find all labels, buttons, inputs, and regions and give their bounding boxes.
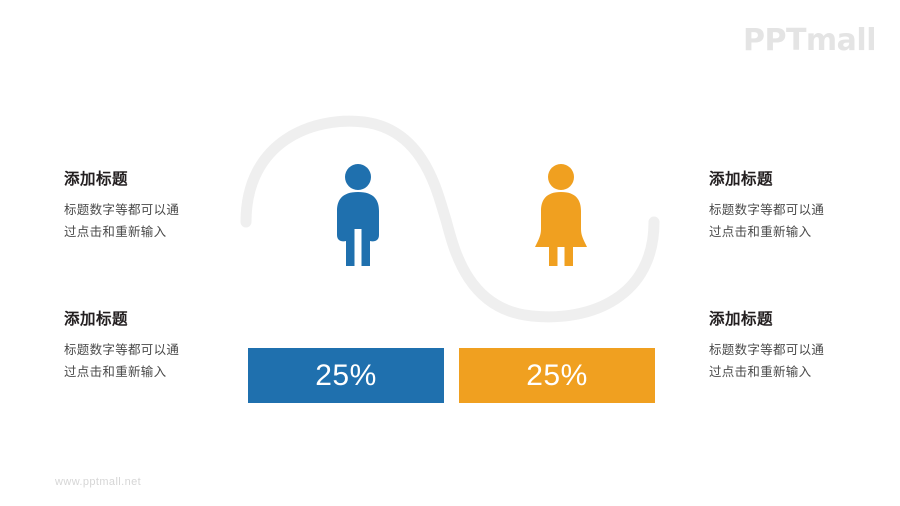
title-top-right: 添加标题 [709, 170, 894, 190]
person-male-icon [330, 163, 386, 268]
body-bottom-left-line1: 标题数字等都可以通 [64, 339, 249, 361]
title-bottom-left: 添加标题 [64, 310, 249, 330]
body-top-left-line1: 标题数字等都可以通 [64, 199, 249, 221]
text-block-top-left[interactable]: 添加标题 标题数字等都可以通 过点击和重新输入 [64, 170, 249, 243]
title-bottom-right: 添加标题 [709, 310, 894, 330]
body-top-left-line2: 过点击和重新输入 [64, 221, 249, 243]
body-bottom-left-line2: 过点击和重新输入 [64, 361, 249, 383]
percentage-value-orange: 25% [526, 359, 588, 393]
body-bottom-right-line1: 标题数字等都可以通 [709, 339, 894, 361]
body-bottom-right-line2: 过点击和重新输入 [709, 361, 894, 383]
body-top-right-line1: 标题数字等都可以通 [709, 199, 894, 221]
footer-url: www.pptmall.net [55, 476, 141, 488]
text-block-top-right[interactable]: 添加标题 标题数字等都可以通 过点击和重新输入 [709, 170, 894, 243]
person-female-icon [533, 163, 589, 268]
percentage-bar-orange[interactable]: 25% [459, 348, 655, 403]
percentage-bar-blue[interactable]: 25% [248, 348, 444, 403]
text-block-bottom-left[interactable]: 添加标题 标题数字等都可以通 过点击和重新输入 [64, 310, 249, 383]
body-top-right-line2: 过点击和重新输入 [709, 221, 894, 243]
text-block-bottom-right[interactable]: 添加标题 标题数字等都可以通 过点击和重新输入 [709, 310, 894, 383]
s-curve-icon [240, 100, 660, 340]
pptmall-logo: PPTmall [743, 26, 876, 56]
title-top-left: 添加标题 [64, 170, 249, 190]
slide-canvas: PPTmall 25% 25% 添加标题 标题数字等都可以通 过点击和重新输入 … [0, 0, 900, 506]
percentage-value-blue: 25% [315, 359, 377, 393]
